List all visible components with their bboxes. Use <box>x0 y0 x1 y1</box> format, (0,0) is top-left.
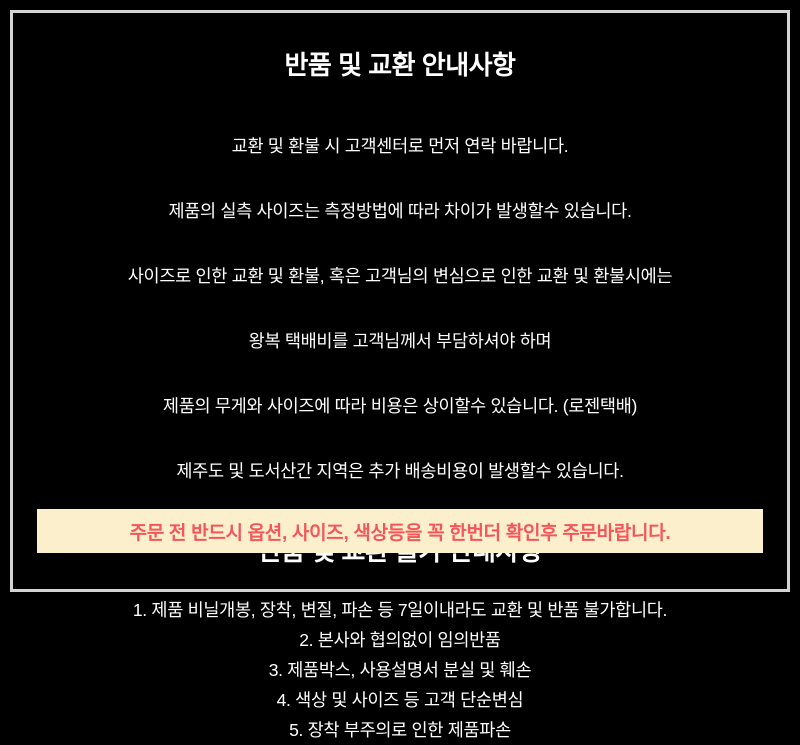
returns-info-line-2: 제품의 실측 사이즈는 측정방법에 따라 차이가 발생할수 있습니다. <box>168 196 631 226</box>
restriction-list: 1. 제품 비닐개봉, 장착, 변질, 파손 등 7일이내라도 교환 및 반품 … <box>133 595 667 745</box>
returns-info-line-6: 제주도 및 도서산간 지역은 추가 배송비용이 발생할수 있습니다. <box>176 456 623 486</box>
list-item: 1. 제품 비닐개봉, 장착, 변질, 파손 등 7일이내라도 교환 및 반품 … <box>133 595 667 625</box>
list-item: 3. 제품박스, 사용설명서 분실 및 훼손 <box>269 655 532 685</box>
list-item: 5. 장착 부주의로 인한 제품파손 <box>289 715 511 745</box>
order-warning-text: 주문 전 반드시 옵션, 사이즈, 색상등을 꼭 한번더 확인후 주문바랍니다. <box>130 518 671 545</box>
returns-info-line-5: 제품의 무게와 사이즈에 따라 비용은 상이할수 있습니다. (로젠택배) <box>163 391 637 421</box>
returns-info-block: 교환 및 환불 시 고객센터로 먼저 연락 바랍니다. 제품의 실측 사이즈는 … <box>128 113 673 503</box>
returns-info-line-3: 사이즈로 인한 교환 및 환불, 혹은 고객님의 변심으로 인한 교환 및 환불… <box>128 261 673 291</box>
returns-info-line-1: 교환 및 환불 시 고객센터로 먼저 연락 바랍니다. <box>232 131 569 161</box>
returns-info-line-4: 왕복 택배비를 고객님께서 부담하셔야 하며 <box>249 326 552 356</box>
list-item: 2. 본사와 협의없이 임의반품 <box>299 625 500 655</box>
order-warning-banner: 주문 전 반드시 옵션, 사이즈, 색상등을 꼭 한번더 확인후 주문바랍니다. <box>37 509 763 553</box>
returns-section-heading: 반품 및 교환 안내사항 <box>285 51 516 80</box>
list-item: 4. 색상 및 사이즈 등 고객 단순변심 <box>277 685 524 715</box>
return-exchange-policy-notice: 반품 및 교환 안내사항 교환 및 환불 시 고객센터로 먼저 연락 바랍니다.… <box>0 0 800 602</box>
notice-content: 반품 및 교환 안내사항 교환 및 환불 시 고객센터로 먼저 연락 바랍니다.… <box>13 13 787 589</box>
